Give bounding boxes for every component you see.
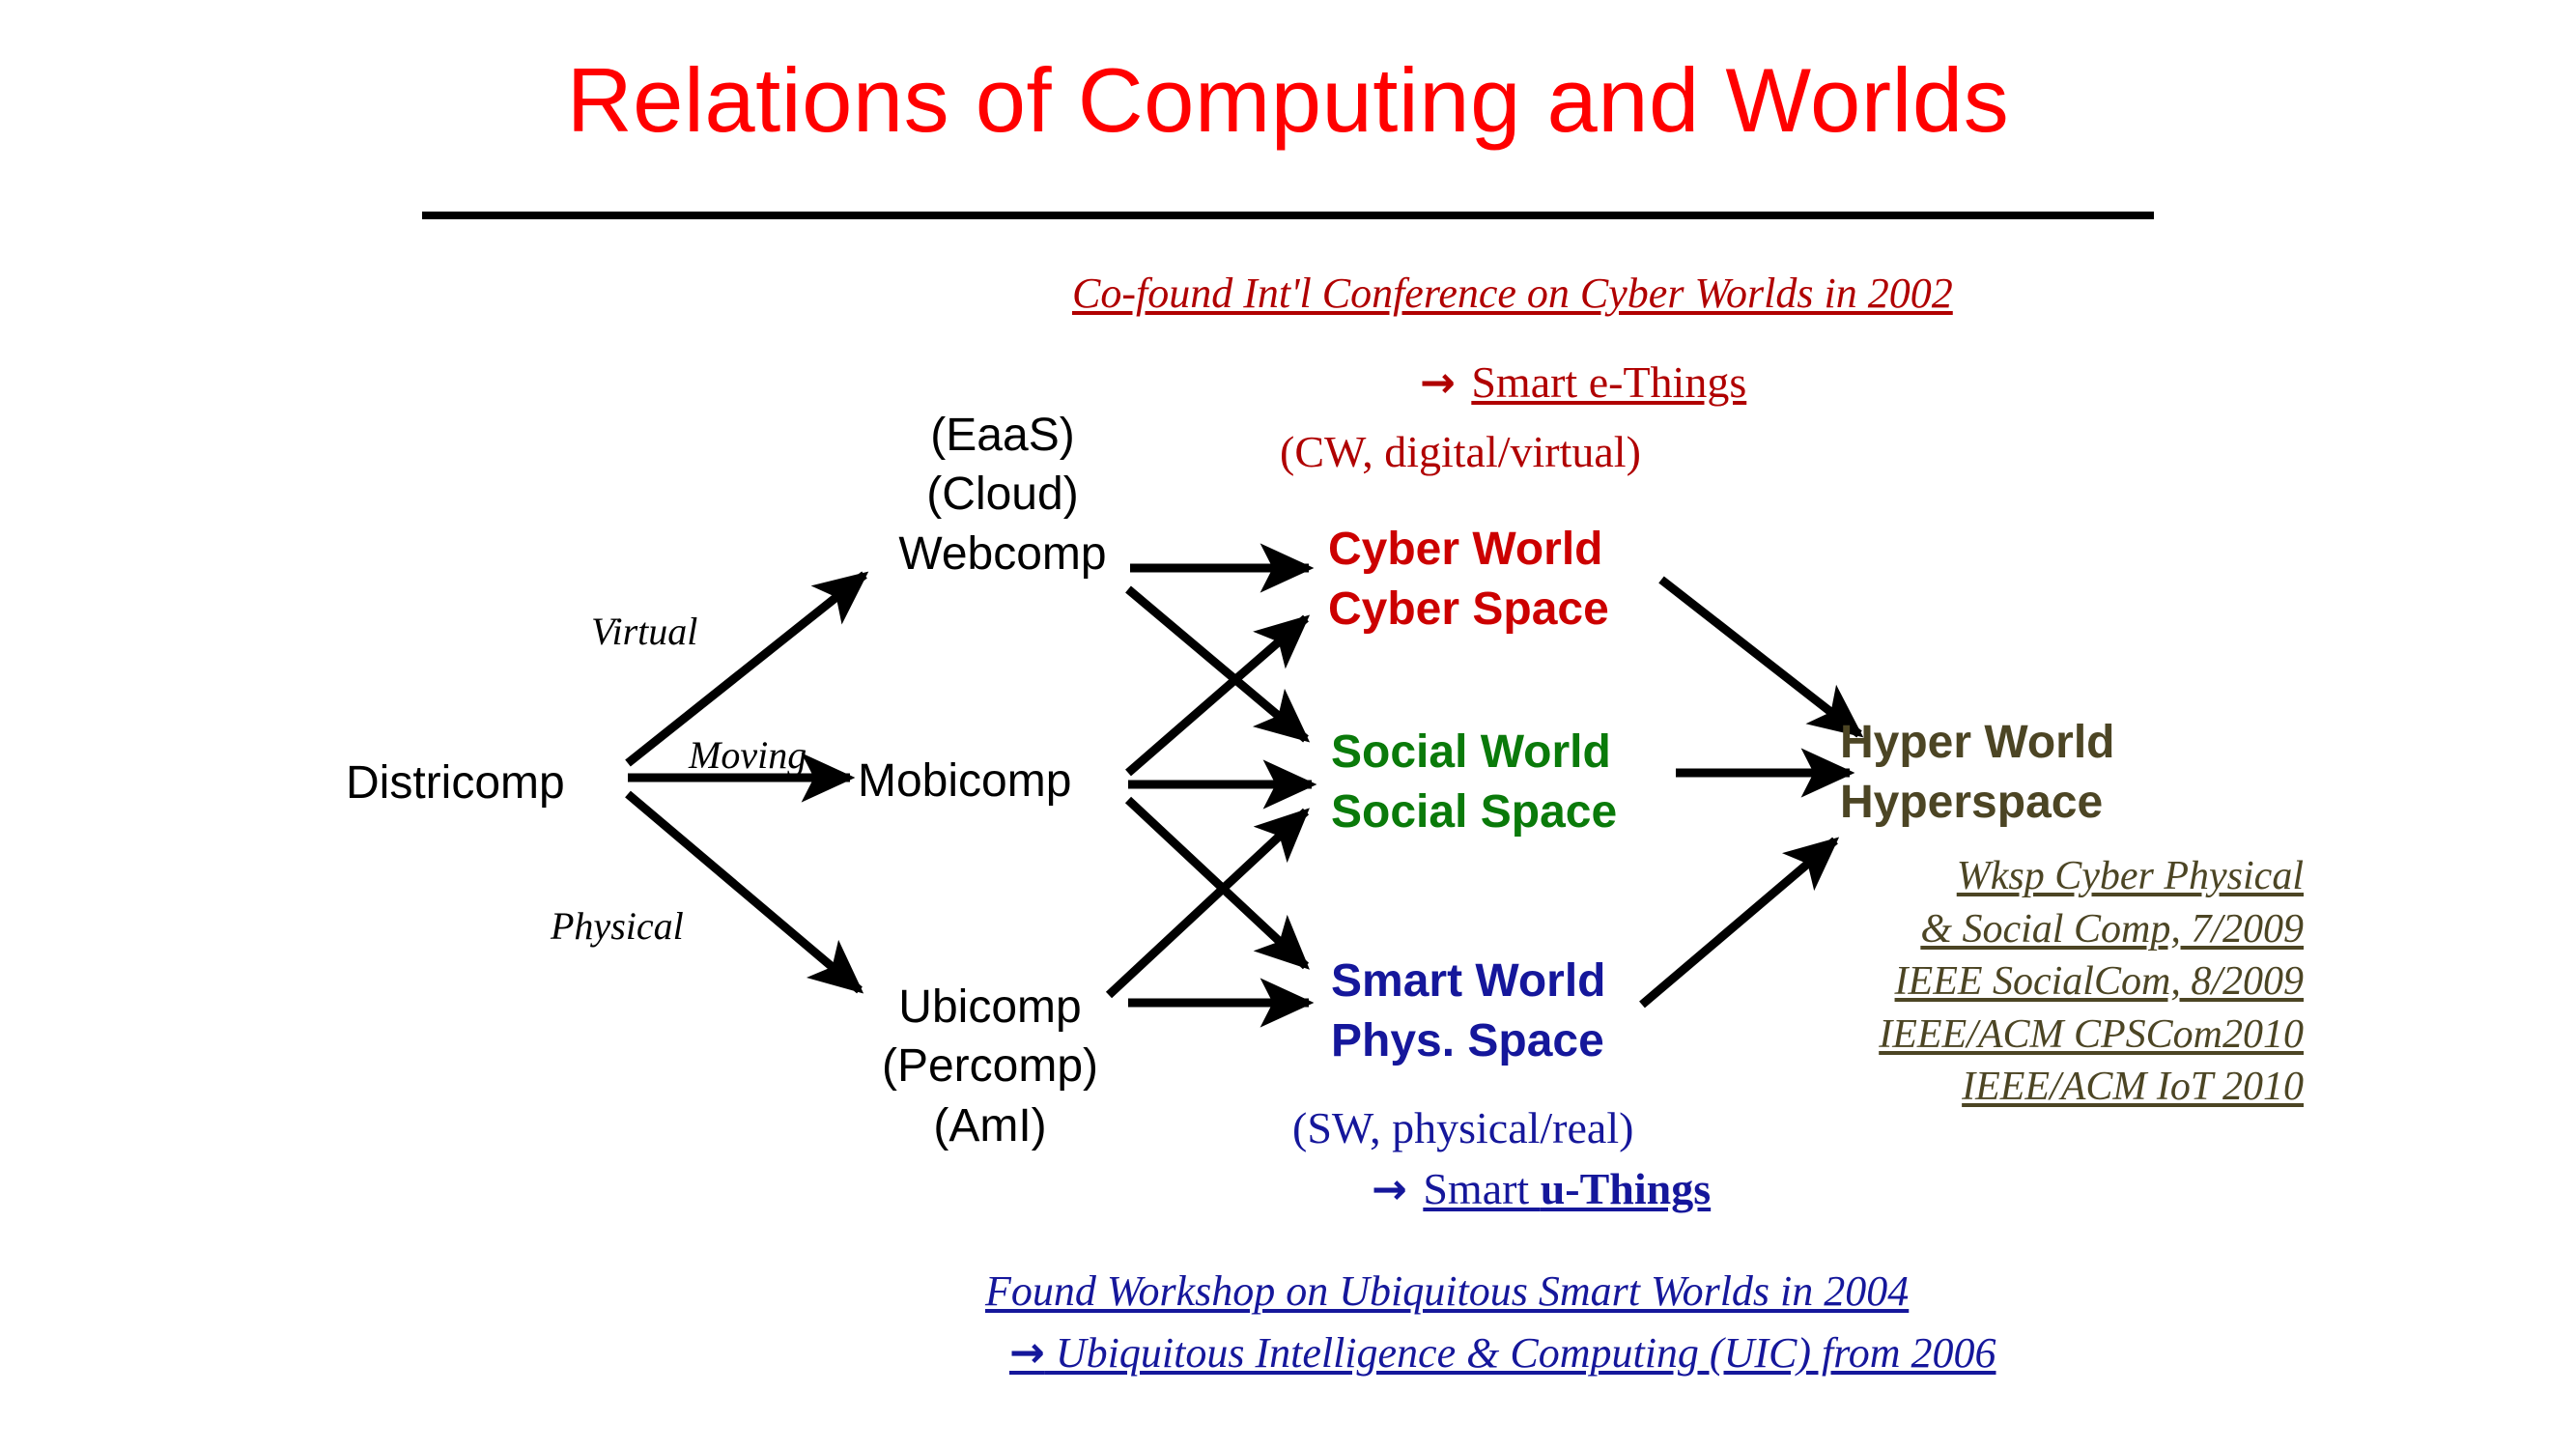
- hyper-event-3: IEEE/ACM CPSCom2010: [1792, 1009, 2304, 1062]
- hyper-event-1: & Social Comp, 7/2009: [1792, 903, 2304, 956]
- edge-label-moving: Moving: [689, 732, 807, 778]
- slide-canvas: Relations of Computing and Worlds Co-fou…: [0, 0, 2576, 1450]
- edge-label-virtual: Virtual: [591, 609, 697, 654]
- node-social-line-1: Social Space: [1331, 782, 1617, 842]
- node-social-line-0: Social World: [1331, 723, 1617, 782]
- node-mobicomp[interactable]: Mobicomp: [858, 752, 1071, 810]
- cyber-world-parenthetical: (CW, digital/virtual): [1280, 425, 1641, 478]
- arrow-cyberworld-hyperworld: [1661, 580, 1859, 734]
- node-ubicomp-line-1: (Percomp): [860, 1037, 1120, 1095]
- node-cyber-line-1: Cyber Space: [1328, 580, 1609, 640]
- hyper-event-2: IEEE SocialCom, 8/2009: [1792, 955, 2304, 1009]
- node-social-world[interactable]: Social World Social Space: [1331, 723, 1617, 843]
- smart-u-things-prefix: Smart: [1423, 1164, 1540, 1213]
- node-ubicomp[interactable]: Ubicomp (Percomp) (AmI): [860, 978, 1120, 1155]
- node-districomp[interactable]: Districomp: [346, 753, 565, 812]
- bottom-uic-line: → Ubiquitous Intelligence & Computing (U…: [1009, 1325, 1996, 1380]
- arrow-webcomp-socialworld: [1128, 589, 1306, 739]
- node-mobicomp-line-0: Mobicomp: [858, 752, 1071, 810]
- top-conference-note: Co-found Int'l Conference on Cyber World…: [1072, 266, 1953, 321]
- page-title: Relations of Computing and Worlds: [0, 53, 2576, 149]
- node-webcomp-line-2: Webcomp: [877, 525, 1128, 583]
- arrow-mobicomp-smartworld: [1128, 800, 1306, 966]
- hyper-event-4: IEEE/ACM IoT 2010: [1792, 1061, 2304, 1114]
- node-webcomp-line-0: (EaaS): [877, 406, 1128, 465]
- node-webcomp-line-1: (Cloud): [877, 465, 1128, 524]
- smart-world-parenthetical: (SW, physical/real): [1292, 1101, 1633, 1154]
- hyper-event-0: Wksp Cyber Physical: [1792, 850, 2304, 903]
- smart-u-things-bold: u-Things: [1541, 1164, 1711, 1213]
- smart-u-things-line: → Smart u-Things: [1372, 1162, 1711, 1215]
- node-districomp-line-0: Districomp: [346, 753, 565, 812]
- node-cyber-world[interactable]: Cyber World Cyber Space: [1328, 520, 1609, 640]
- node-ubicomp-line-0: Ubicomp: [860, 978, 1120, 1037]
- edge-label-physical: Physical: [551, 903, 684, 949]
- title-divider: [422, 212, 2154, 219]
- node-ubicomp-line-2: (AmI): [860, 1096, 1120, 1155]
- right-arrow-icon-2: →: [1372, 1165, 1407, 1214]
- arrow-mobicomp-cyberspace: [1128, 618, 1306, 773]
- node-smart-world[interactable]: Smart World Phys. Space: [1331, 952, 1605, 1072]
- node-smart-line-1: Phys. Space: [1331, 1011, 1605, 1071]
- node-hyper-line-1: Hyperspace: [1840, 773, 2114, 833]
- hyper-events-list: Wksp Cyber Physical & Social Comp, 7/200…: [1792, 850, 2304, 1114]
- bottom-workshop-note: Found Workshop on Ubiquitous Smart World…: [985, 1264, 1909, 1319]
- smart-e-things-label: Smart e-Things: [1471, 357, 1746, 407]
- arrow-ubicomp-socialspace: [1109, 811, 1306, 995]
- arrow-districomp-ubicomp: [628, 794, 860, 990]
- bottom-uic-note: Ubiquitous Intelligence & Computing (UIC…: [1045, 1329, 1996, 1377]
- node-cyber-line-0: Cyber World: [1328, 520, 1609, 580]
- right-arrow-icon: →: [1420, 358, 1456, 408]
- smart-e-things-line: → Smart e-Things: [1420, 355, 1746, 409]
- node-hyper-line-0: Hyper World: [1840, 713, 2114, 773]
- node-hyper-world[interactable]: Hyper World Hyperspace: [1840, 713, 2114, 834]
- right-arrow-icon-3: →: [1009, 1328, 1045, 1378]
- node-smart-line-0: Smart World: [1331, 952, 1605, 1011]
- node-webcomp[interactable]: (EaaS) (Cloud) Webcomp: [877, 406, 1128, 583]
